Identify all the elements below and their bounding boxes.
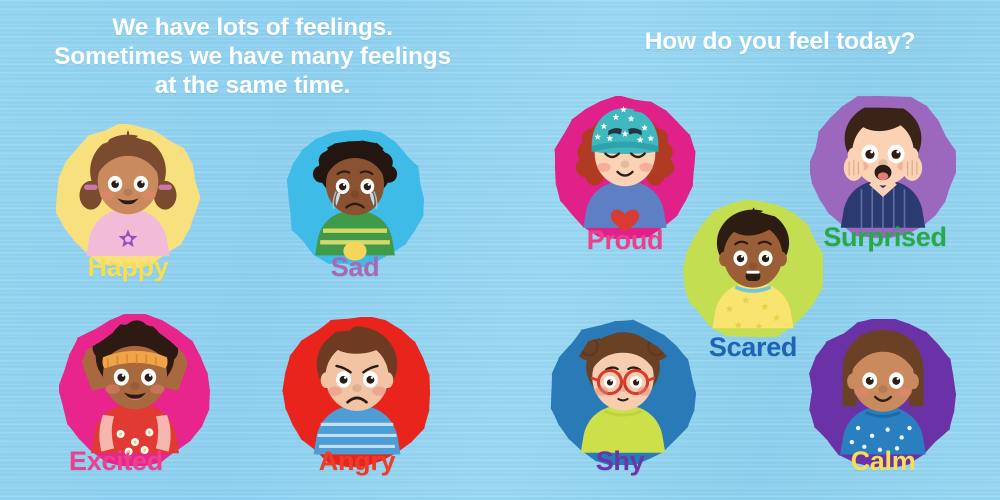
feeling-card-shy[interactable] [550,319,696,465]
feeling-portrait-surprised [810,94,956,240]
feeling-card-scared[interactable] [683,200,823,340]
feeling-card-surprised[interactable] [810,94,956,240]
feeling-portrait-scared [683,200,823,340]
heading-left-line-1: We have lots of feelings. [30,14,475,43]
feeling-card-proud[interactable] [553,96,697,240]
feeling-label-surprised: Surprised [823,222,946,253]
feeling-label-excited: Excited [69,446,163,477]
feeling-label-happy: Happy [87,252,168,283]
feeling-label-angry: Angry [319,446,396,477]
heading-left-line-2: Sometimes we have many feelings [30,43,475,72]
feeling-card-sad[interactable] [286,129,424,267]
feeling-card-happy[interactable] [56,124,200,268]
feeling-card-angry[interactable] [282,317,432,467]
heading-right: How do you feel today? [560,28,1000,57]
feeling-portrait-happy [56,124,200,268]
heading-left: We have lots of feelings. Sometimes we h… [30,14,475,101]
feeling-portrait-calm [809,319,957,467]
feeling-portrait-angry [282,317,432,467]
feeling-card-calm[interactable] [809,319,957,467]
feeling-label-sad: Sad [331,252,380,283]
feeling-label-shy: Shy [596,446,645,477]
feeling-label-scared: Scared [709,332,797,363]
feeling-portrait-excited [59,314,211,466]
feeling-label-calm: Calm [851,446,916,477]
heading-left-line-3: at the same time. [30,72,475,101]
feeling-card-excited[interactable] [59,314,211,466]
feeling-portrait-sad [286,129,424,267]
feeling-label-proud: Proud [587,225,664,256]
feeling-portrait-shy [550,319,696,465]
feeling-portrait-proud [553,96,697,240]
